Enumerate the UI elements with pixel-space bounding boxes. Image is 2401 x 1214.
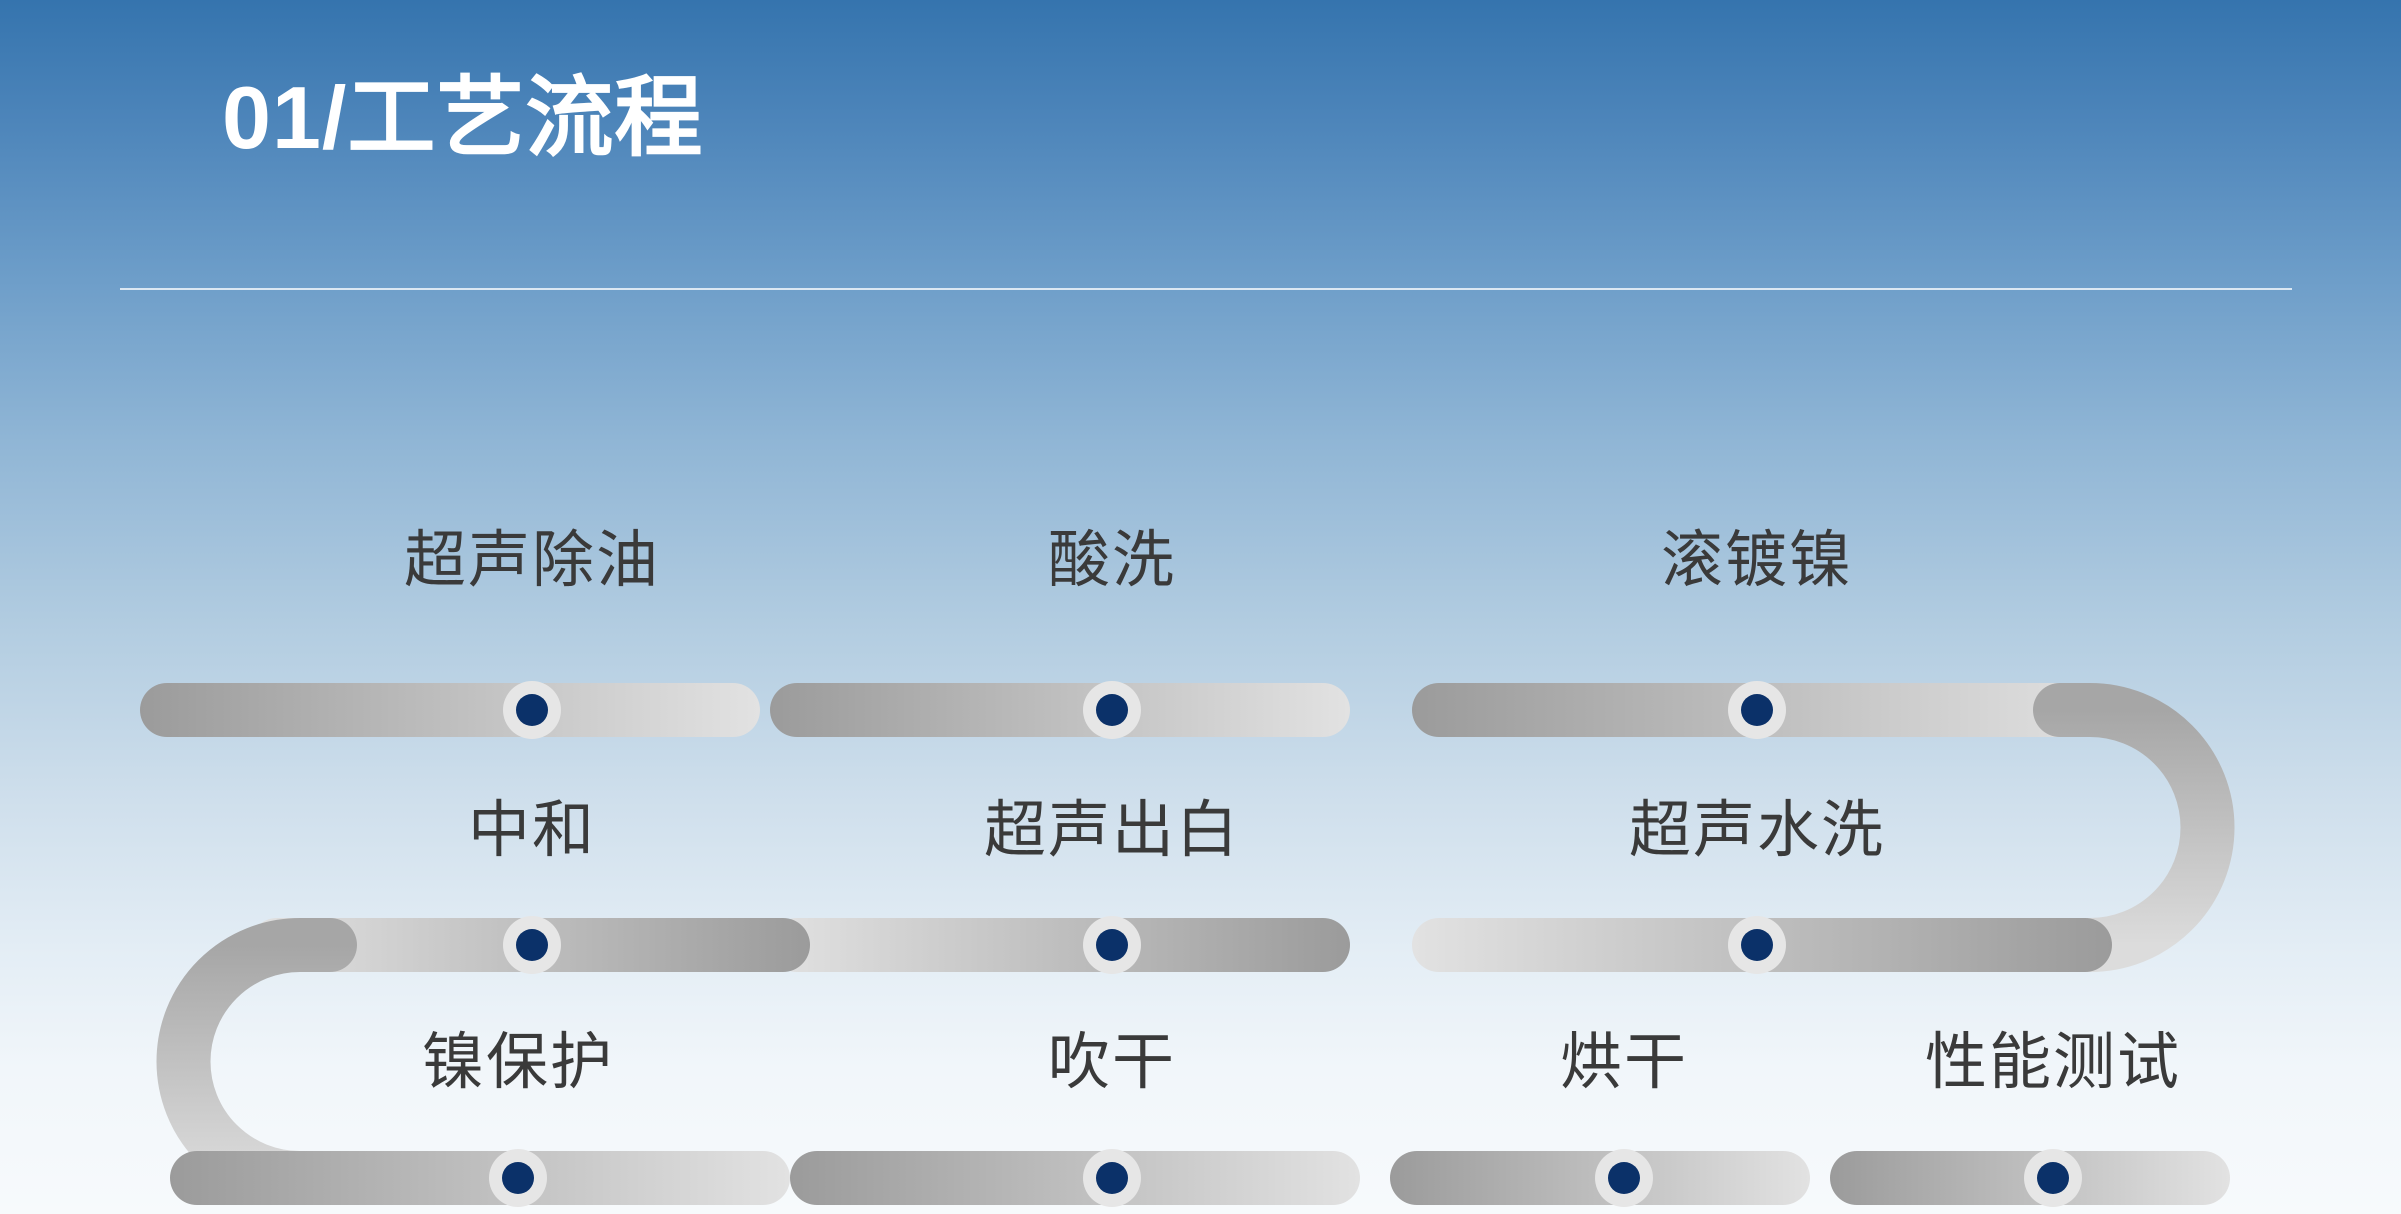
step-label-3: 滚镀镍 [1661,530,1853,592]
step-node-1[interactable] [503,681,561,739]
step-node-dot [502,1162,534,1194]
step-node-dot [1096,1162,1128,1194]
step-node-dot [1608,1162,1640,1194]
step-label-5: 超声出白 [984,800,1240,862]
step-node-3[interactable] [1728,681,1786,739]
step-node-5[interactable] [1083,916,1141,974]
step-node-dot [2037,1162,2069,1194]
step-label-9: 烘干 [1560,1032,1688,1094]
step-label-6: 超声水洗 [1629,800,1885,862]
step-label-2: 酸洗 [1048,530,1176,592]
step-node-dot [516,694,548,726]
step-node-dot [516,929,548,961]
step-node-6[interactable] [1728,916,1786,974]
step-node-4[interactable] [503,916,561,974]
slide-canvas: 01/工艺流程 [0,0,2401,1214]
step-node-7[interactable] [489,1149,547,1207]
step-label-1: 超声除油 [404,530,660,592]
step-label-7: 镍保护 [422,1032,614,1094]
step-node-dot [1741,694,1773,726]
step-node-dot [1096,694,1128,726]
step-node-8[interactable] [1083,1149,1141,1207]
step-label-10: 性能测试 [1925,1032,2181,1094]
step-node-9[interactable] [1595,1149,1653,1207]
step-node-10[interactable] [2024,1149,2082,1207]
step-label-8: 吹干 [1048,1032,1176,1094]
step-node-dot [1741,929,1773,961]
step-node-2[interactable] [1083,681,1141,739]
step-node-dot [1096,929,1128,961]
step-label-4: 中和 [468,800,596,862]
